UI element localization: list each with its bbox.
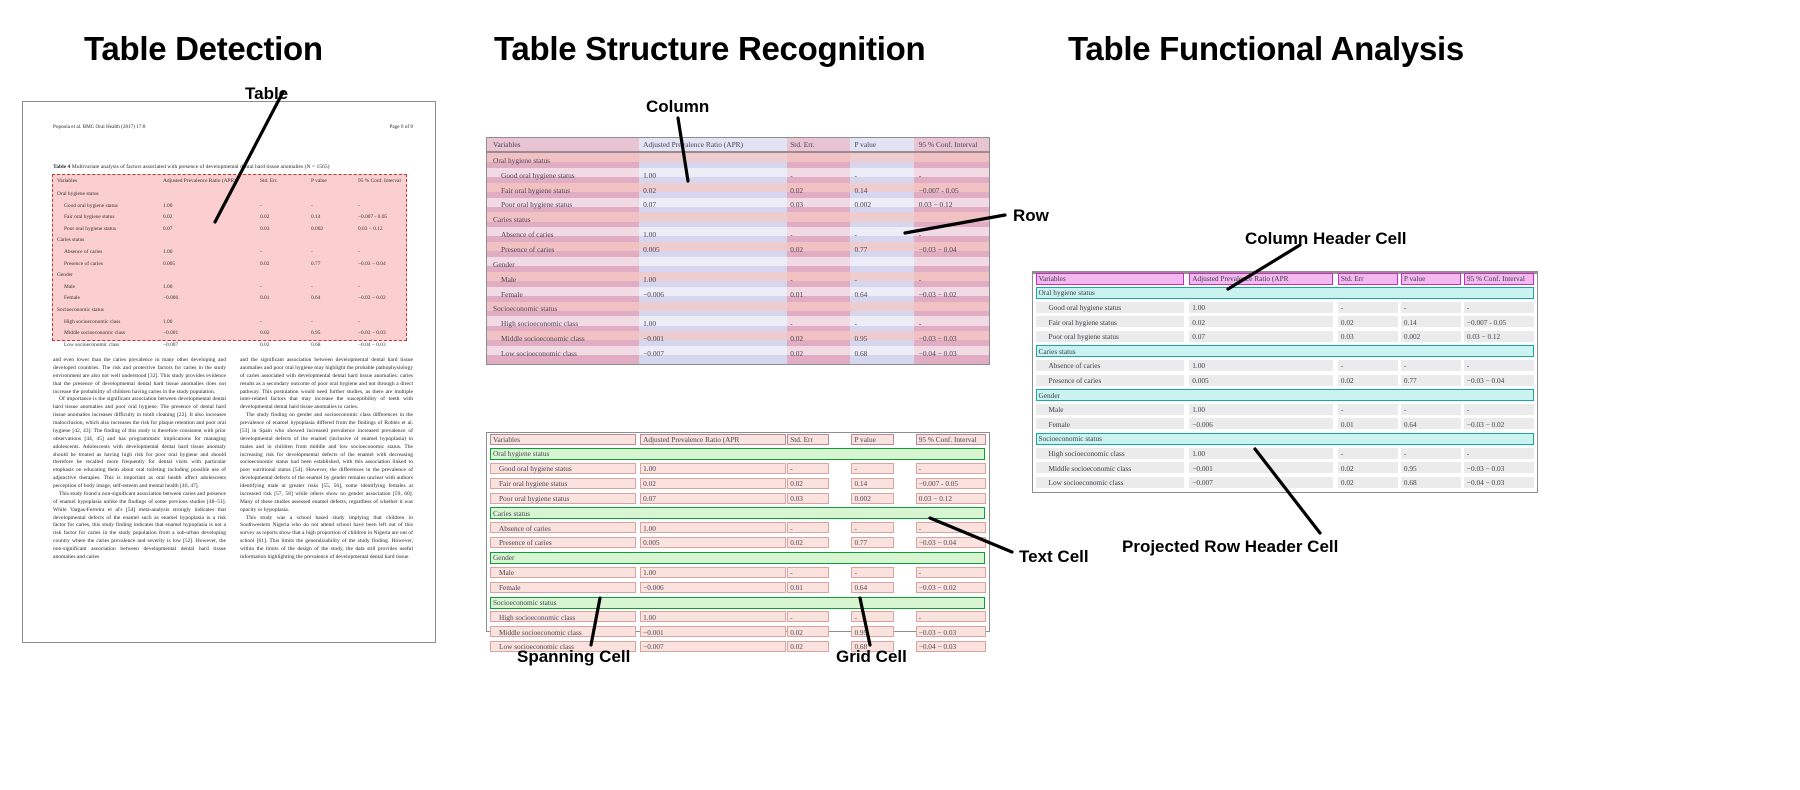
cell-text: 0.02 [790, 628, 803, 637]
table-cell: 0.95 [311, 330, 320, 336]
table-cell: 0.77 [851, 242, 914, 257]
paper-table-caption-label: Table 4 [53, 164, 70, 170]
table-cell [640, 257, 786, 272]
table-cell: - [916, 227, 987, 242]
cell-text: 0.03 − 0.12 [919, 494, 952, 503]
table-cell: - [311, 249, 313, 255]
grid-cell [787, 522, 829, 533]
cell-text: - [790, 568, 792, 577]
cell-text: Socioeconomic status [1039, 434, 1102, 443]
cell-text: 0.02 [1192, 318, 1205, 327]
cell-text: - [854, 568, 856, 577]
column-header-cell: Std. Err. [787, 138, 850, 151]
table-cell: - [787, 168, 850, 183]
table-group-row: Caries status [487, 212, 989, 227]
cell-text: 1.00 [643, 613, 656, 622]
cell-text: 0.07 [643, 494, 656, 503]
cell-text: −0.03 − 0.02 [919, 583, 956, 592]
detected-table-region: VariablesAdjusted Prevalence Ratio (APR)… [52, 174, 407, 341]
cell-text: - [790, 464, 792, 473]
cell-text: - [1404, 303, 1406, 312]
cell-text: Fair oral hygiene status [499, 479, 567, 488]
cell-text: 0.07 [1192, 332, 1205, 341]
projected-row-header-cell [1036, 389, 1534, 401]
paper-paragraph: This study found a non-significant assoc… [53, 491, 226, 562]
table-cell: 0.02 [260, 261, 269, 267]
paper-body-columns: and even lower than the caries prevalenc… [53, 357, 413, 628]
cell-text: 0.02 [790, 538, 803, 547]
table-cell: - [916, 168, 987, 183]
table-cell: −0.006 [640, 287, 786, 302]
table-cell: 0.14 [311, 214, 320, 220]
cell-text: Low socioeconomic class [1049, 478, 1124, 487]
cell-text: Good oral hygiene status [499, 464, 572, 473]
cell-text: - [919, 613, 921, 622]
table-cell: 0.64 [851, 287, 914, 302]
table-cell: Caries status [57, 237, 84, 243]
table-cell: P value [311, 178, 327, 184]
cell-text: Variables [1039, 274, 1066, 283]
table-cell [640, 153, 786, 168]
structure-recognition-table: VariablesAdjusted Prevalence Ratio (APR)… [486, 137, 990, 365]
table-cell: 0.01 [260, 295, 269, 301]
cell-text: - [1341, 303, 1343, 312]
paper-running-head: Popoola et al. BMC Oral Health (2017) 17… [53, 124, 413, 130]
cell-text: 0.03 [1341, 332, 1354, 341]
table-cell: 0.68 [851, 346, 914, 361]
paper-body-left-column: and even lower than the caries prevalenc… [53, 357, 226, 628]
table-cell: - [787, 227, 850, 242]
table-cell: −0.001 [640, 331, 786, 346]
grid-cell [916, 567, 986, 578]
paper-paragraph: The study finding on gender and socioeco… [240, 412, 413, 514]
table-cell: 0.02 [787, 331, 850, 346]
cell-text: - [919, 568, 921, 577]
table-cell: −0.001 [163, 330, 178, 336]
cell-text: Female [1049, 420, 1070, 429]
table-cell: 1.00 [163, 249, 172, 255]
cell-text: −0.007 - 0.05 [919, 479, 958, 488]
cell-text: −0.04 − 0.03 [919, 642, 956, 651]
table-cell: - [358, 319, 360, 325]
cell-text: Absence of caries [1049, 361, 1101, 370]
table-cell: −0.03 − 0.02 [916, 287, 987, 302]
grid-cell [640, 567, 786, 578]
table-cell: 1.00 [640, 227, 786, 242]
table-cell [916, 153, 987, 168]
table-row: Absence of caries1.00--- [487, 227, 989, 242]
panel-title-detection: Table Detection [84, 30, 323, 68]
table-row: Good oral hygiene status1.00--- [487, 168, 989, 183]
annotation-column: Column [646, 97, 709, 117]
table-cell: - [851, 272, 914, 287]
cell-text: −0.006 [643, 583, 664, 592]
table-cell: −0.007 - 0.05 [916, 183, 987, 198]
table-cell: 0.64 [311, 295, 320, 301]
cell-text: Middle socioeconomic class [1049, 464, 1132, 473]
table-cell: −0.006 [163, 295, 178, 301]
annotation-text-cell: Text Cell [1019, 547, 1089, 567]
column-header-cell: Adjusted Prevalence Ratio (APR) [640, 138, 786, 151]
cell-text: - [1404, 361, 1406, 370]
text-cell [1189, 302, 1333, 313]
table-cell: Gender [57, 272, 73, 278]
table-cell: 1.00 [163, 284, 172, 290]
grid-cell-table: VariablesAdjusted Prevalence Ratio (APRS… [486, 432, 990, 632]
table-group-row: Socioeconomic status [487, 302, 989, 317]
table-cell: Poor oral hygiene status [490, 198, 636, 213]
table-cell: - [260, 284, 262, 290]
cell-text: - [790, 524, 792, 533]
table-cell: - [851, 168, 914, 183]
cell-text: 0.68 [1404, 478, 1417, 487]
table-cell: Socioeconomic status [490, 302, 636, 317]
table-cell: 0.02 [260, 214, 269, 220]
grid-cell [787, 611, 829, 622]
table-cell: - [358, 203, 360, 209]
table-cell: - [851, 316, 914, 331]
cell-text: - [854, 613, 856, 622]
paper-paragraph: Of importance is the significant associa… [53, 396, 226, 491]
table-row: Poor oral hygiene status0.070.030.0020.0… [487, 198, 989, 213]
table-row: Male1.00--- [487, 272, 989, 287]
cell-text: 0.002 [854, 494, 870, 503]
annotation-row: Row [1013, 206, 1049, 226]
cell-text: Male [1049, 405, 1064, 414]
table-cell: Variables [57, 178, 77, 184]
table-cell [787, 212, 850, 227]
table-cell [851, 153, 914, 168]
table-cell: −0.03 − 0.03 [358, 330, 386, 336]
table-cell: −0.007 [640, 346, 786, 361]
table-cell: Std. Err. [260, 178, 278, 184]
table-cell: - [311, 203, 313, 209]
table-cell: - [358, 249, 360, 255]
cell-text: 1.00 [643, 464, 656, 473]
cell-text: Fair oral hygiene status [1049, 318, 1117, 327]
table-cell: Female [490, 287, 636, 302]
paper-table-caption: Table 4 Multivariate analysis of factors… [53, 164, 413, 171]
cell-text: 0.77 [854, 538, 867, 547]
table-cell: 0.02 [787, 183, 850, 198]
column-header-cell: P value [851, 138, 914, 151]
table-cell: Absence of caries [490, 227, 636, 242]
cell-text: 0.95 [1404, 464, 1417, 473]
table-cell: 1.00 [640, 272, 786, 287]
grid-cell [851, 463, 893, 474]
table-cell: 0.07 [163, 226, 172, 232]
grid-cell [851, 567, 893, 578]
table-cell: 0.005 [640, 242, 786, 257]
table-row: Middle socioeconomic class−0.0010.020.95… [487, 331, 989, 346]
table-cell: Male [64, 284, 75, 290]
cell-text: 1.00 [1192, 361, 1205, 370]
text-cell [1464, 360, 1535, 371]
text-cell [1338, 448, 1398, 459]
table-cell: Male [490, 272, 636, 287]
table-cell: 1.00 [163, 319, 172, 325]
cell-text: −0.03 − 0.03 [919, 628, 956, 637]
table-cell [916, 302, 987, 317]
grid-cell [916, 463, 986, 474]
cell-text: 0.01 [1341, 420, 1354, 429]
cell-text: - [1341, 405, 1343, 414]
table-cell: −0.03 − 0.02 [358, 295, 386, 301]
cell-text: −0.007 [1192, 478, 1213, 487]
table-cell: −0.04 − 0.03 [358, 342, 386, 348]
text-cell [1338, 360, 1398, 371]
text-cell [1401, 404, 1461, 415]
table-cell: 0.02 [640, 183, 786, 198]
table-cell [787, 302, 850, 317]
text-cell [1189, 360, 1333, 371]
cell-text: Presence of caries [1049, 376, 1102, 385]
table-cell: −0.03 − 0.04 [916, 242, 987, 257]
paper-table-caption-text: Multivariate analysis of factors associa… [72, 164, 330, 170]
grid-cell [851, 522, 893, 533]
table-cell: 1.00 [640, 316, 786, 331]
cell-text: Male [499, 568, 514, 577]
table-cell: Low socioeconomic class [64, 342, 119, 348]
table-cell: Good oral hygiene status [64, 203, 118, 209]
table-group-row: Gender [487, 257, 989, 272]
text-cell [1401, 302, 1461, 313]
grid-cell [640, 463, 786, 474]
table-cell [787, 153, 850, 168]
column-header-cell: Variables [490, 138, 636, 151]
text-cell [1189, 316, 1333, 327]
text-cell [1189, 375, 1333, 386]
table-cell: 0.03 [260, 226, 269, 232]
text-cell [1189, 404, 1333, 415]
cell-text: - [1467, 449, 1469, 458]
cell-text: 0.02 [790, 479, 803, 488]
table-cell: Gender [490, 257, 636, 272]
cell-text: Absence of caries [499, 524, 551, 533]
cell-text: −0.007 [643, 642, 664, 651]
grid-cell [640, 522, 786, 533]
table-cell [851, 212, 914, 227]
table-cell: 0.002 [851, 198, 914, 213]
table-cell: - [311, 319, 313, 325]
table-cell: −0.03 − 0.03 [916, 331, 987, 346]
cell-text: 0.14 [1404, 318, 1417, 327]
spanning-cell [490, 597, 985, 609]
table-row: Female−0.0060.010.64−0.03 − 0.02 [487, 287, 989, 302]
table-cell: 0.01 [787, 287, 850, 302]
cell-text: - [919, 464, 921, 473]
table-cell: 0.03 [787, 198, 850, 213]
table-cell: Female [64, 295, 80, 301]
cell-text: 1.00 [1192, 303, 1205, 312]
table-cell: 0.02 [260, 342, 269, 348]
table-cell: 0.77 [311, 261, 320, 267]
table-cell: 0.02 [260, 330, 269, 336]
cell-text: 0.64 [854, 583, 867, 592]
cell-text: - [1404, 405, 1406, 414]
text-cell [1401, 360, 1461, 371]
grid-cell [916, 611, 986, 622]
cell-text: 95 % Conf. Interval [919, 435, 977, 444]
table-cell: −0.007 [163, 342, 178, 348]
cell-text: Gender [1039, 391, 1060, 400]
cell-text: Caries status [1039, 347, 1076, 356]
table-cell: −0.03 − 0.04 [358, 261, 386, 267]
annotation-spanning-cell: Spanning Cell [517, 647, 630, 667]
cell-text: Middle socioeconomic class [499, 628, 582, 637]
table-cell: - [851, 227, 914, 242]
cell-text: Presence of caries [499, 538, 552, 547]
table-cell [640, 302, 786, 317]
table-row: Low socioeconomic class−0.0070.020.68−0.… [487, 346, 989, 361]
cell-text: - [1467, 303, 1469, 312]
cell-text: - [854, 464, 856, 473]
cell-text: Female [499, 583, 520, 592]
cell-text: 0.02 [1341, 478, 1354, 487]
grid-cell [787, 567, 829, 578]
cell-text: 0.02 [1341, 376, 1354, 385]
cell-text: Oral hygiene status [493, 449, 549, 458]
table-cell: 0.95 [851, 331, 914, 346]
cell-text: 0.005 [1192, 376, 1208, 385]
grid-cell [640, 493, 786, 504]
table-cell: Middle socioeconomic class [64, 330, 125, 336]
text-cell [1464, 448, 1535, 459]
cell-text: Good oral hygiene status [1049, 303, 1122, 312]
annotation-column-header-cell: Column Header Cell [1245, 229, 1407, 249]
grid-cell [916, 522, 986, 533]
paper-paragraph: and even lower than the caries prevalenc… [53, 357, 226, 396]
cell-text: Caries status [493, 509, 530, 518]
table-cell: 0.002 [311, 226, 323, 232]
paper-paragraph: and the significant association between … [240, 357, 413, 412]
cell-text: Variables [493, 435, 520, 444]
cell-text: P value [854, 435, 875, 444]
table-row: High socioeconomic class1.00--- [487, 316, 989, 331]
paper-body-right-column: and the significant association between … [240, 357, 413, 628]
cell-text: −0.03 − 0.03 [1467, 464, 1504, 473]
table-cell: Adjusted Prevalence Ratio (APR) [163, 178, 236, 184]
cell-text: Gender [493, 553, 514, 562]
cell-text: 1.00 [643, 524, 656, 533]
table-cell [787, 257, 850, 272]
table-group-row: Oral hygiene status [487, 153, 989, 168]
projected-row-header-cell [1036, 287, 1534, 299]
table-cell: - [358, 284, 360, 290]
table-cell: −0.04 − 0.03 [916, 346, 987, 361]
functional-analysis-table: VariablesAdjusted Prevalence Ratio (APRS… [1032, 271, 1538, 493]
cell-text: −0.001 [643, 628, 664, 637]
cell-text: −0.03 − 0.04 [1467, 376, 1504, 385]
cell-text: −0.03 − 0.04 [919, 538, 956, 547]
text-cell [1338, 302, 1398, 313]
cell-text: Std. Err [1341, 274, 1364, 283]
annotation-table: Table [245, 84, 288, 104]
cell-text: - [1341, 449, 1343, 458]
grid-cell [640, 611, 786, 622]
cell-text: - [1467, 361, 1469, 370]
table-cell [851, 257, 914, 272]
cell-text: 0.95 [854, 628, 867, 637]
table-cell: 1.00 [640, 168, 786, 183]
cell-text: 0.02 [790, 642, 803, 651]
table-cell: 0.14 [851, 183, 914, 198]
grid-cell [787, 463, 829, 474]
text-cell [1401, 448, 1461, 459]
table-cell: −0.007 - 0.05 [358, 214, 387, 220]
grid-cell [851, 611, 893, 622]
panel-title-functional: Table Functional Analysis [1068, 30, 1464, 68]
cell-text: 0.77 [1404, 376, 1417, 385]
table-cell: - [260, 203, 262, 209]
table-cell: High socioeconomic class [64, 319, 120, 325]
table-row: Presence of caries0.0050.020.77−0.03 − 0… [487, 242, 989, 257]
table-cell [916, 257, 987, 272]
table-cell: - [787, 272, 850, 287]
table-cell [640, 212, 786, 227]
cell-text: −0.007 - 0.05 [1467, 318, 1506, 327]
table-cell: Middle socioeconomic class [490, 331, 636, 346]
cell-text: 0.02 [643, 479, 656, 488]
cell-text: High socioeconomic class [1049, 449, 1125, 458]
table-row: Fair oral hygiene status0.020.020.14−0.0… [487, 183, 989, 198]
text-cell [1189, 448, 1333, 459]
cell-text: −0.03 − 0.02 [1467, 420, 1504, 429]
cell-text: High socioeconomic class [499, 613, 575, 622]
cell-text: 0.14 [854, 479, 867, 488]
table-cell: 0.03 − 0.12 [916, 198, 987, 213]
spanning-cell [490, 448, 985, 460]
table-cell: - [787, 316, 850, 331]
grid-cell [640, 478, 786, 489]
table-cell [851, 302, 914, 317]
cell-text: - [854, 524, 856, 533]
panel-title-structure: Table Structure Recognition [494, 30, 925, 68]
cell-text: 0.03 [790, 494, 803, 503]
cell-text: Std. Err [790, 435, 813, 444]
table-cell: Low socioeconomic class [490, 346, 636, 361]
cell-text: Oral hygiene status [1039, 288, 1095, 297]
table-cell: High socioeconomic class [490, 316, 636, 331]
spanning-cell [490, 552, 985, 564]
cell-text: Adjusted Prevalence Ratio (APR [643, 435, 739, 444]
table-cell: Poor oral hygiene status [64, 226, 116, 232]
table-header-row: VariablesAdjusted Prevalence Ratio (APR)… [487, 138, 989, 151]
table-cell: 0.005 [163, 261, 175, 267]
paper-page-label: Page 6 of 8 [390, 124, 413, 130]
cell-text: Adjusted Prevalence Ratio (APR [1192, 274, 1288, 283]
table-cell: Presence of caries [490, 242, 636, 257]
cell-text: 1.00 [643, 568, 656, 577]
table-cell: - [916, 316, 987, 331]
text-cell [1338, 404, 1398, 415]
table-cell: 0.68 [311, 342, 320, 348]
table-cell: Socioeconomic status [57, 307, 104, 313]
cell-text: 0.03 − 0.12 [1467, 332, 1500, 341]
cell-text: - [790, 613, 792, 622]
table-cell: - [260, 319, 262, 325]
text-cell [1189, 331, 1333, 342]
projected-row-header-cell [1036, 345, 1534, 357]
cell-text: Poor oral hygiene status [499, 494, 569, 503]
table-cell: 0.02 [787, 242, 850, 257]
table-cell: Oral hygiene status [490, 153, 636, 168]
cell-text: 0.64 [1404, 420, 1417, 429]
cell-text: - [1467, 405, 1469, 414]
table-cell: - [916, 272, 987, 287]
annotation-grid-cell: Grid Cell [836, 647, 907, 667]
table-cell: 0.02 [787, 346, 850, 361]
